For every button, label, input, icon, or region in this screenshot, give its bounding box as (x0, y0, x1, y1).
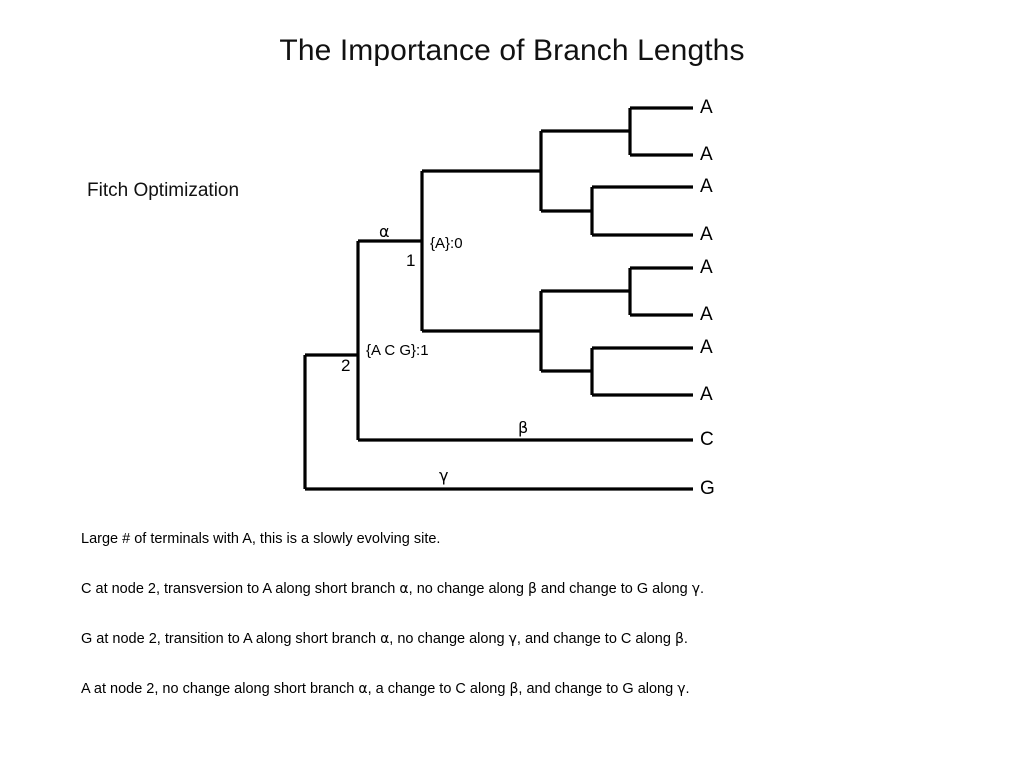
note-2-gamma: γ (692, 581, 700, 597)
tip-label-0: A (700, 98, 713, 117)
note-3-seg-2: , no change along (389, 631, 508, 647)
note-2-alpha: α (399, 581, 408, 597)
note-line-3: G at node 2, transition to A along short… (81, 631, 688, 648)
note-3-seg-0: G at node 2, transition to A along short… (81, 631, 380, 647)
node-2-number: 2 (341, 357, 350, 374)
tip-label-2: A (700, 177, 713, 196)
note-line-4: A at node 2, no change along short branc… (81, 681, 690, 698)
note-3-seg-4: , and change to C along (517, 631, 675, 647)
note-line-1: Large # of terminals with A, this is a s… (81, 531, 440, 548)
note-4-alpha: α (358, 681, 367, 697)
node-1-state-set: {A}:0 (430, 236, 463, 251)
tip-label-6: A (700, 338, 713, 357)
branch-label-beta: β (518, 420, 528, 436)
tip-label-3: A (700, 225, 713, 244)
note-line-2: C at node 2, transversion to A along sho… (81, 581, 704, 598)
tip-label-1: A (700, 145, 713, 164)
tip-label-8: C (700, 430, 714, 449)
note-3-alpha: α (380, 631, 389, 647)
phylogenetic-tree-diagram (0, 0, 1024, 768)
note-4-seg-6: . (686, 681, 690, 697)
slide-canvas: The Importance of Branch Lengths Fitch O… (0, 0, 1024, 768)
note-4-seg-4: , and change to G along (518, 681, 677, 697)
note-3-seg-6: . (684, 631, 688, 647)
node-1-number: 1 (406, 252, 415, 269)
node-2-state-set: {A C G}:1 (366, 343, 429, 358)
note-3-gamma: γ (509, 631, 517, 647)
note-3-beta: β (675, 631, 684, 647)
tip-label-5: A (700, 305, 713, 324)
tip-label-4: A (700, 258, 713, 277)
note-4-gamma: γ (677, 681, 685, 697)
branch-label-alpha: α (379, 224, 390, 240)
note-2-beta: β (528, 581, 537, 597)
note-4-seg-0: A at node 2, no change along short branc… (81, 681, 358, 697)
tip-label-7: A (700, 385, 713, 404)
note-2-seg-4: and change to G along (537, 581, 692, 597)
note-2-seg-0: C at node 2, transversion to A along sho… (81, 581, 399, 597)
note-2-seg-6: . (700, 581, 704, 597)
tip-label-9: G (700, 479, 715, 498)
note-4-seg-2: , a change to C along (368, 681, 510, 697)
note-2-seg-2: , no change along (409, 581, 528, 597)
branch-label-gamma: γ (439, 468, 448, 484)
